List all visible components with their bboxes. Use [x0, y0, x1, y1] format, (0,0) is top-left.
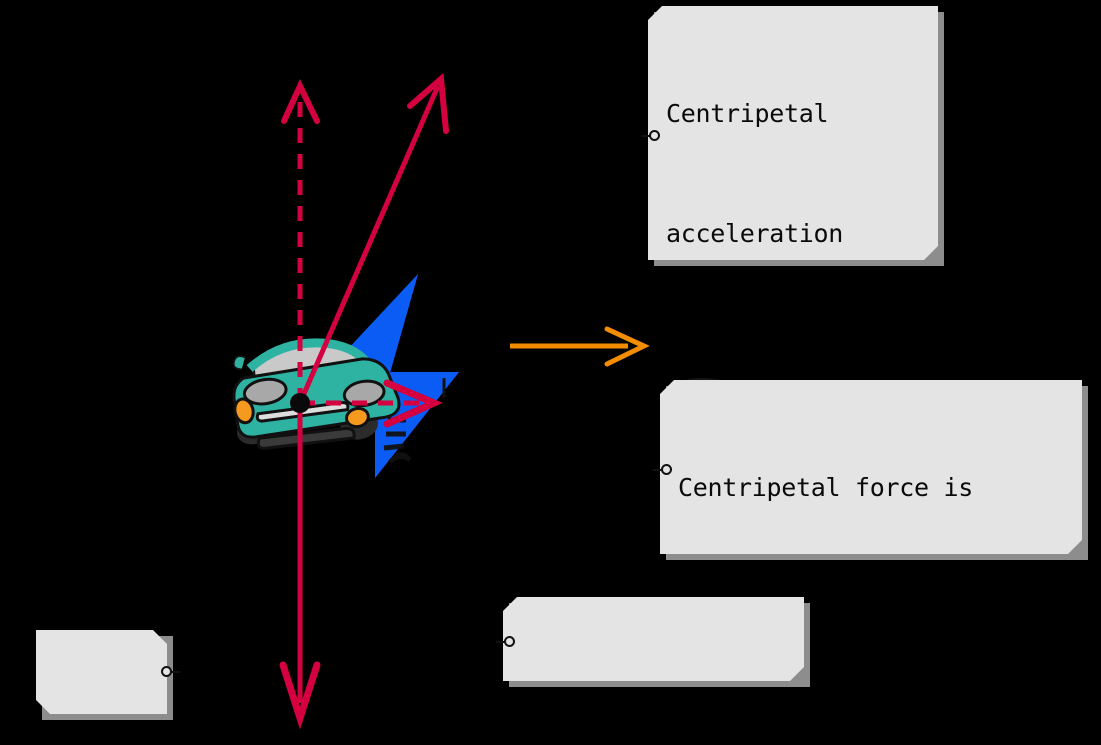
callout-2-connector — [653, 464, 675, 476]
callout-4-connector — [158, 666, 180, 678]
callout-2-connector-ring — [661, 464, 672, 475]
callout-1-connector-ring — [649, 130, 660, 141]
car-wing-mirror — [232, 355, 247, 371]
callout-1-connector — [641, 130, 663, 142]
centre-of-mass-dot — [290, 393, 310, 413]
callout-3-connector-ring — [504, 636, 515, 647]
callout-3-connector — [496, 636, 518, 648]
callout-4-connector-ring — [161, 666, 172, 677]
angle-of-incline-note: Angle of incline of banked surface — [503, 597, 804, 681]
callout-1-line-2: acceleration — [666, 214, 924, 254]
weight-of-car-note: Weight of car — [36, 630, 167, 714]
figure-canvas: S — [0, 0, 1101, 745]
centripetal-force-note: Centripetal force is the horizontal comp… — [660, 380, 1082, 554]
callout-4-connector-stub — [171, 671, 180, 673]
centripetal-acceleration-note: Centripetal acceleration acts along the … — [648, 6, 938, 260]
callout-1-line-1: Centripetal — [666, 94, 924, 134]
callout-2-line-1: Centripetal force is — [678, 468, 1068, 508]
